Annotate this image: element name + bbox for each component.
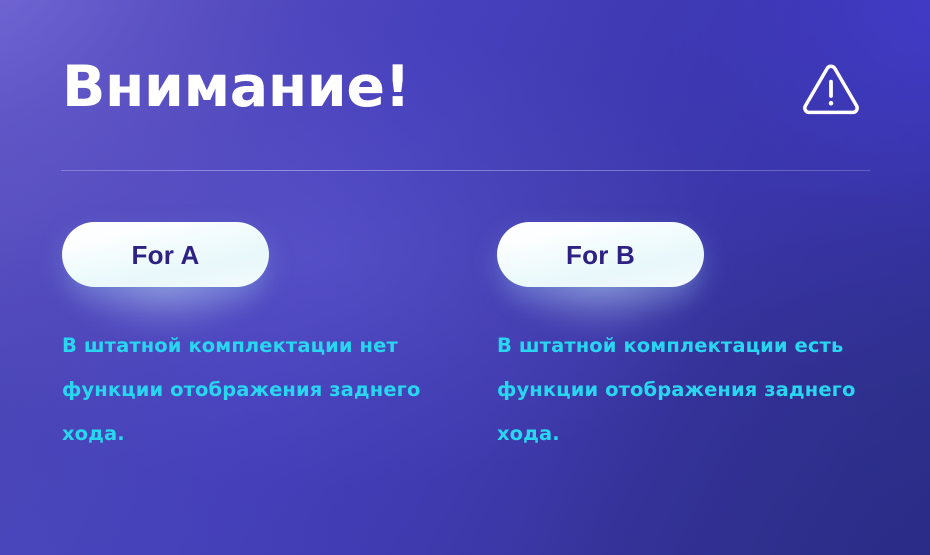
pill-wrap-b: For B [497, 214, 887, 292]
page-title: Внимание! [62, 52, 410, 122]
header: Внимание! [62, 52, 870, 138]
for-b-button-label: For B [566, 242, 635, 268]
for-a-description: В штатной комплектации нет функции отобр… [62, 324, 444, 456]
column-for-b: For B В штатной комплектации есть функци… [497, 214, 887, 292]
for-b-description: В штатной комплектации есть функции отоб… [497, 324, 887, 456]
pill-wrap-a: For A [62, 214, 452, 292]
slide-canvas: Внимание! For A В штатной комплектации н… [0, 0, 930, 555]
column-for-a: For A В штатной комплектации нет функции… [62, 214, 452, 292]
for-b-button[interactable]: For B [497, 222, 704, 287]
header-divider [61, 170, 870, 171]
for-a-button-label: For A [132, 242, 200, 268]
for-a-button[interactable]: For A [62, 222, 269, 287]
warning-triangle-icon [800, 60, 862, 122]
